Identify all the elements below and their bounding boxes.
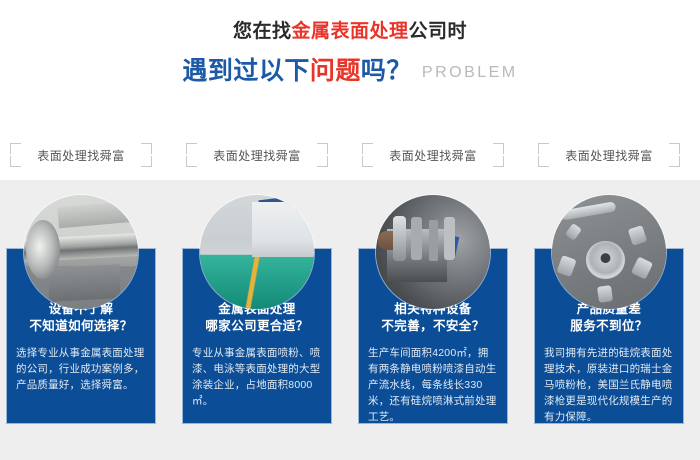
corner-bracket-icon — [186, 156, 197, 167]
photo-shape — [57, 201, 136, 228]
corner-bracket-icon — [317, 143, 328, 154]
card-tab-text: 表面处理找舜富 — [213, 147, 301, 164]
lathe-metal-shaft-photo — [24, 195, 138, 309]
photo-shape — [631, 256, 653, 279]
factory-corridor-photo — [200, 195, 314, 309]
card-tab-label: 表面处理找舜富 — [362, 140, 504, 170]
problem-card[interactable]: 表面处理找舜富 产品质量差 服务不到位？ 我司拥有先进的硅烷表面处理技术，原装进… — [534, 140, 684, 170]
card-tab-label: 表面处理找舜富 — [186, 140, 328, 170]
problem-card[interactable]: 表面处理找舜富 相关特种设备 不完善，不安全？ 生产车间面积4200㎡，拥有两条… — [358, 140, 508, 170]
corner-bracket-icon — [10, 143, 21, 154]
photo-shape — [49, 264, 120, 302]
heading-line1-before: 您在找 — [233, 21, 292, 42]
bolts-nuts-photo — [552, 195, 666, 309]
photo-shape — [259, 195, 314, 212]
photo-shape — [565, 223, 582, 241]
corner-bracket-icon — [669, 143, 680, 154]
corner-bracket-icon — [362, 156, 373, 167]
machined-parts-photo — [376, 195, 490, 309]
card-tab-label: 表面处理找舜富 — [10, 140, 152, 170]
corner-bracket-icon — [317, 156, 328, 167]
card-description: 生产车间面积4200㎡，拥有两条静电喷粉喷漆自动生产流水线，每条线长330米，还… — [368, 345, 498, 425]
card-text-block: 金属表面处理 哪家公司更合适？ 专业从事金属表面喷粉、喷漆、电泳等表面处理的大型… — [183, 301, 331, 409]
corner-bracket-icon — [141, 156, 152, 167]
card-tab-text: 表面处理找舜富 — [389, 147, 477, 164]
promo-section: 您在找金属表面处理公司时 遇到过以下问题吗？PROBLEM 表面处理找舜富 设备… — [0, 0, 700, 460]
card-text-block: 产品质量差 服务不到位？ 我司拥有先进的硅烷表面处理技术，原装进口的瑞士金马喷粉… — [535, 301, 683, 425]
photo-shape — [378, 231, 403, 249]
card-text-block: 相关特种设备 不完善，不安全？ 生产车间面积4200㎡，拥有两条静电喷粉喷漆自动… — [359, 301, 507, 425]
card-tab-label: 表面处理找舜富 — [538, 140, 680, 170]
card-description: 选择专业从事金属表面处理的公司，行业成功案例多，产品质量好，选择舜富。 — [16, 345, 146, 393]
corner-bracket-icon — [669, 156, 680, 167]
card-tab-text: 表面处理找舜富 — [37, 147, 125, 164]
heading-line1-highlight: 金属表面处理 — [291, 21, 408, 42]
corner-bracket-icon — [186, 143, 197, 154]
photo-shape — [597, 285, 613, 303]
heading-line-2: 遇到过以下问题吗？PROBLEM — [0, 54, 700, 90]
heading-line2-before: 遇到过以下 — [182, 57, 310, 85]
photo-shape — [266, 205, 314, 218]
section-heading: 您在找金属表面处理公司时 遇到过以下问题吗？PROBLEM — [0, 18, 700, 90]
card-text-block: 设备不了解 不知道如何选择？ 选择专业从事金属表面处理的公司，行业成功案例多，产… — [7, 301, 155, 393]
photo-shape — [444, 235, 459, 259]
card-photo — [24, 195, 138, 309]
problem-card[interactable]: 表面处理找舜富 金属表面处理 哪家公司更合适？ 专业从事金属表面喷粉、喷漆、电泳… — [182, 140, 332, 170]
photo-shape — [556, 255, 576, 277]
corner-bracket-icon — [362, 143, 373, 154]
card-photo — [376, 195, 490, 309]
corner-bracket-icon — [493, 143, 504, 154]
corner-bracket-icon — [538, 143, 549, 154]
heading-line-1: 您在找金属表面处理公司时 — [0, 18, 700, 46]
card-photo — [552, 195, 666, 309]
heading-english-label: PROBLEM — [422, 64, 518, 81]
corner-bracket-icon — [538, 156, 549, 167]
corner-bracket-icon — [10, 156, 21, 167]
heading-line1-after: 公司时 — [409, 21, 468, 42]
corner-bracket-icon — [141, 143, 152, 154]
corner-bracket-icon — [493, 156, 504, 167]
card-photo — [200, 195, 314, 309]
heading-line2-highlight: 问题 — [310, 57, 361, 85]
problem-card[interactable]: 表面处理找舜富 设备不了解 不知道如何选择？ 选择专业从事金属表面处理的公司，行… — [6, 140, 156, 170]
heading-line2-after: 吗？ — [361, 57, 412, 85]
photo-shape — [627, 225, 646, 246]
card-tab-text: 表面处理找舜富 — [565, 147, 653, 164]
card-description: 我司拥有先进的硅烷表面处理技术，原装进口的瑞士金马喷粉枪，美国兰氏静电喷漆枪更是… — [544, 345, 674, 425]
card-description: 专业从事金属表面喷粉、喷漆、电泳等表面处理的大型涂装企业，占地面积8000㎡。 — [192, 345, 322, 409]
